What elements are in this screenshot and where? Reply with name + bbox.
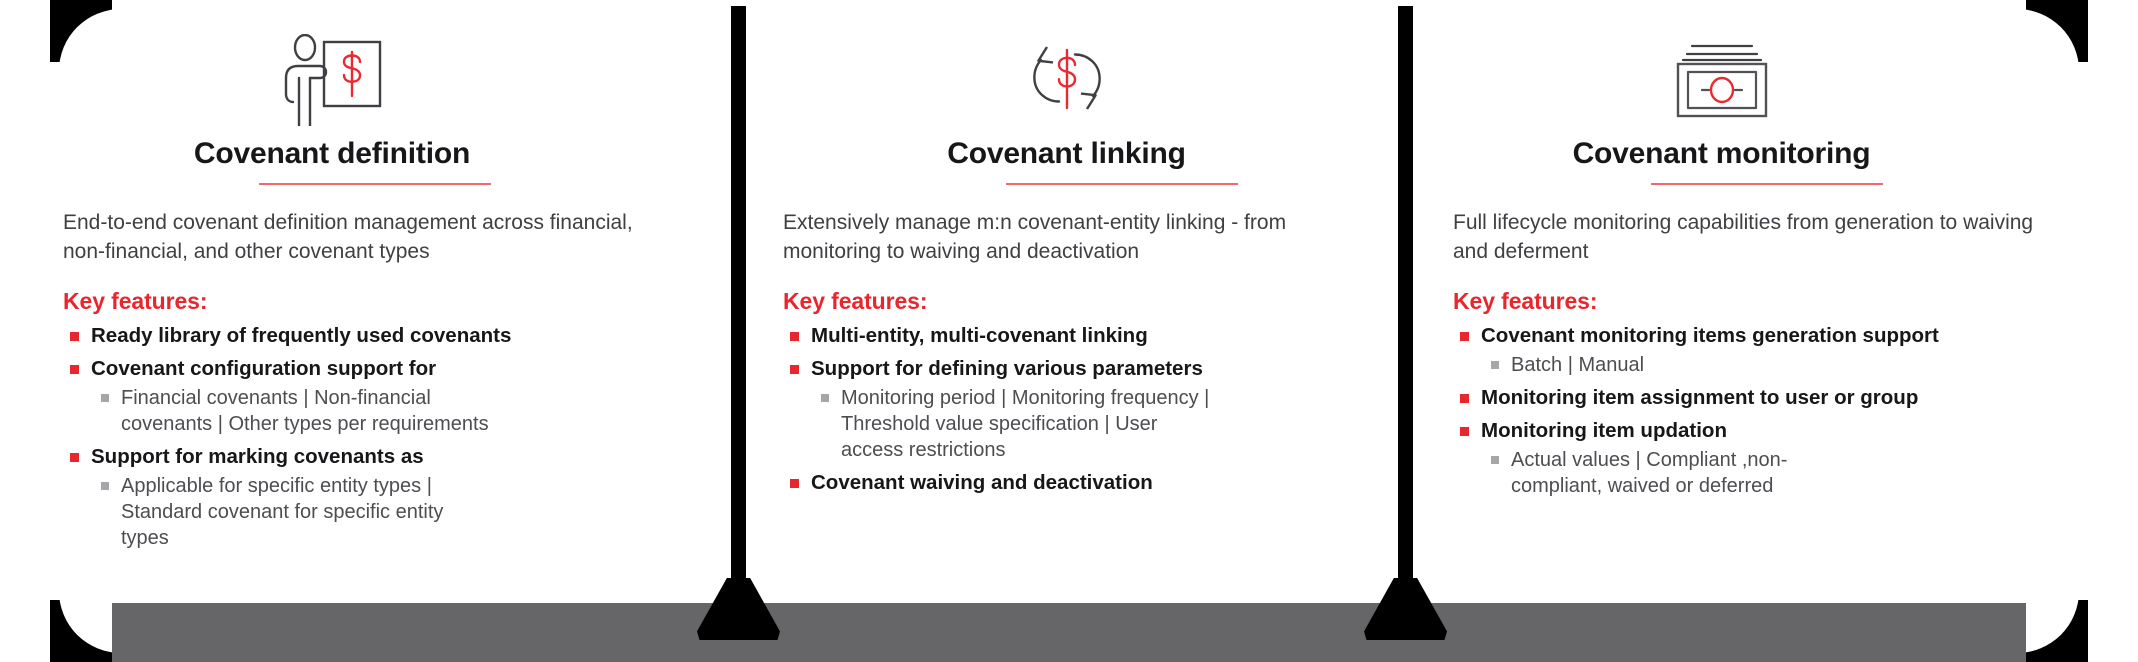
list-item: Batch | Manual [1481, 352, 1871, 378]
title-underline [1006, 183, 1238, 185]
list-item: Ready library of frequently used covenan… [63, 322, 683, 349]
page-title: Covenant definition [63, 136, 711, 172]
list-item: Covenant waiving and deactivation [783, 469, 1378, 496]
sub-feature-text: Actual values | Compliant ,non-compliant… [1511, 449, 1787, 497]
column-description: Full lifecycle monitoring capabilities f… [1453, 208, 2053, 266]
page-title: Covenant monitoring [1453, 136, 2078, 172]
sub-feature-text: Applicable for specific entity types | S… [121, 475, 443, 549]
list-item: Multi-entity, multi-covenant linking [783, 322, 1378, 349]
feature-text: Support for marking covenants as [91, 445, 424, 468]
list-item: Support for marking covenants as Applica… [63, 443, 683, 551]
banknote-stack-icon [1453, 24, 2078, 136]
sub-feature-list: Monitoring period | Monitoring frequency… [811, 385, 1378, 463]
title-underline [259, 183, 491, 185]
sub-feature-list: Financial covenants | Non-financial cove… [91, 385, 683, 437]
corner-bracket-bottom-right [2026, 600, 2088, 662]
square-bullet-icon [1491, 361, 1499, 369]
sub-feature-list: Applicable for specific entity types | S… [91, 473, 683, 551]
feature-list: Covenant monitoring items generation sup… [1453, 322, 2078, 499]
page-title: Covenant linking [783, 136, 1378, 172]
sub-feature-list: Actual values | Compliant ,non-compliant… [1481, 447, 2073, 499]
feature-text: Monitoring item updation [1481, 419, 1727, 442]
square-bullet-icon [1460, 427, 1469, 436]
sub-feature-text: Batch | Manual [1511, 354, 1644, 376]
slide-canvas: Covenant definition End-to-end covenant … [0, 0, 2138, 662]
square-bullet-icon [101, 394, 109, 402]
list-item: Actual values | Compliant ,non-compliant… [1481, 447, 1871, 499]
bottom-bar [63, 603, 2075, 662]
list-item: Applicable for specific entity types | S… [91, 473, 491, 551]
square-bullet-icon [70, 453, 79, 462]
square-bullet-icon [101, 482, 109, 490]
sub-feature-text: Financial covenants | Non-financial cove… [121, 387, 489, 435]
column-divider-2 [1398, 6, 1413, 640]
column-covenant-linking: Covenant linking Extensively manage m:n … [731, 0, 1398, 600]
feature-list: Ready library of frequently used covenan… [63, 322, 711, 551]
list-item: Monitoring item assignment to user or gr… [1453, 384, 2073, 411]
feature-list: Multi-entity, multi-covenant linking Sup… [783, 322, 1378, 496]
three-column-layout: Covenant definition End-to-end covenant … [0, 0, 2138, 600]
feature-text: Covenant configuration support for [91, 357, 436, 380]
feature-text: Covenant waiving and deactivation [811, 471, 1153, 494]
sub-feature-text: Monitoring period | Monitoring frequency… [841, 387, 1209, 461]
square-bullet-icon [70, 365, 79, 374]
column-covenant-definition: Covenant definition End-to-end covenant … [0, 0, 731, 600]
list-item: Covenant configuration support for Finan… [63, 355, 683, 437]
list-item: Monitoring period | Monitoring frequency… [811, 385, 1211, 463]
column-description: Extensively manage m:n covenant-entity l… [783, 208, 1343, 266]
key-features-label: Key features: [63, 288, 711, 315]
feature-text: Ready library of frequently used covenan… [91, 324, 511, 347]
circular-arrows-dollar-icon [783, 24, 1378, 136]
feature-text: Monitoring item assignment to user or gr… [1481, 386, 1918, 409]
key-features-label: Key features: [783, 288, 1378, 315]
square-bullet-icon [1491, 456, 1499, 464]
key-features-label: Key features: [1453, 288, 2078, 315]
square-bullet-icon [790, 365, 799, 374]
square-bullet-icon [70, 332, 79, 341]
title-underline [1651, 183, 1883, 185]
list-item: Financial covenants | Non-financial cove… [91, 385, 491, 437]
square-bullet-icon [1460, 332, 1469, 341]
feature-text: Support for defining various parameters [811, 357, 1203, 380]
feature-text: Covenant monitoring items generation sup… [1481, 324, 1939, 347]
column-covenant-monitoring: Covenant monitoring Full lifecycle monit… [1398, 0, 2138, 600]
list-item: Support for defining various parameters … [783, 355, 1378, 463]
feature-text: Multi-entity, multi-covenant linking [811, 324, 1148, 347]
square-bullet-icon [1460, 394, 1469, 403]
square-bullet-icon [790, 479, 799, 488]
square-bullet-icon [790, 332, 799, 341]
square-bullet-icon [821, 394, 829, 402]
column-divider-1 [731, 6, 746, 640]
sub-feature-list: Batch | Manual [1481, 352, 2073, 378]
list-item: Covenant monitoring items generation sup… [1453, 322, 2073, 378]
list-item: Monitoring item updation Actual values |… [1453, 417, 2073, 499]
corner-bracket-bottom-left [50, 600, 112, 662]
presenter-board-dollar-icon [63, 24, 711, 136]
column-description: End-to-end covenant definition managemen… [63, 208, 663, 266]
